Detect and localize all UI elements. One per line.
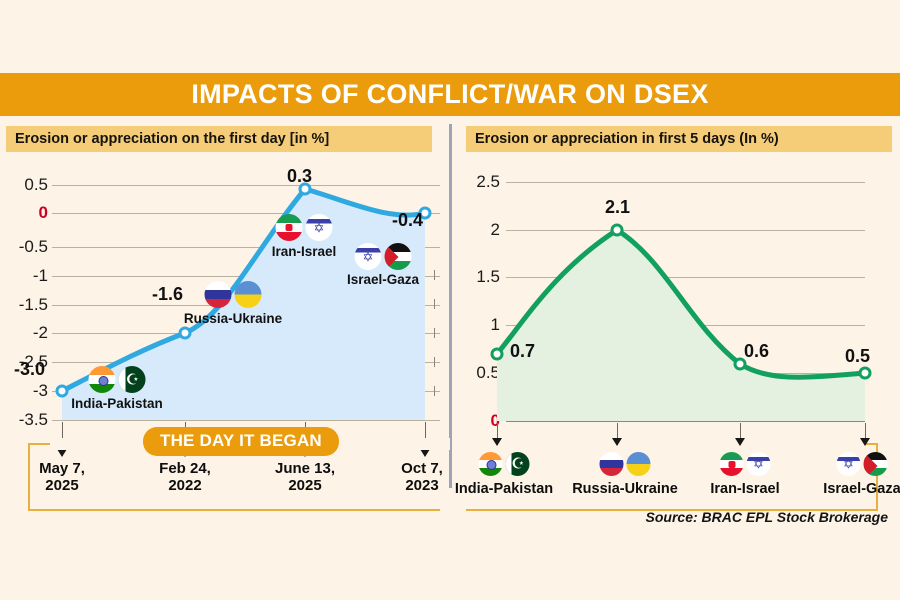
israel-flag-icon-3 [747,452,771,476]
flagpair-5d-iran-israel [720,452,771,476]
value-label-russia-ukraine: -1.6 [152,284,183,305]
event-label-israel-gaza: Israel-Gaza [347,272,419,287]
right-panel-heading-text: Erosion or appreciation in first 5 days … [466,131,779,147]
value-label-iran-israel: 0.3 [287,166,312,187]
event-label-russia-ukraine: Russia-Ukraine [184,311,282,326]
left-panel-heading-text: Erosion or appreciation on the first day… [6,131,329,147]
data-point-5d-russia-ukraine[interactable] [611,224,624,237]
main-title-bar: IMPACTS OF CONFLICT/WAR ON DSEX [0,73,900,116]
pakistan-flag-icon-2 [506,452,530,476]
israel-flag-icon-2 [355,243,382,270]
tick-right-edge-4 [434,357,435,367]
flagpair-5d-russia-ukraine [600,452,651,476]
x-arrow-5d-russia-ukraine [611,423,623,445]
right-area-fill [497,230,865,421]
flagpair-5d-india-pakistan [479,452,530,476]
israel-flag-icon-4 [837,452,861,476]
source-note: Source: BRAC EPL Stock Brokerage [646,509,888,525]
data-point-russia-ukraine[interactable] [179,327,192,340]
value-label-5d-russia-ukraine: 2.1 [605,197,630,218]
data-point-india-pakistan[interactable] [56,385,69,398]
data-point-5d-india-pakistan[interactable] [491,348,504,361]
palestine-flag-icon [385,243,412,270]
flagpair-5d-israel-gaza [837,452,888,476]
value-label-5d-india-pakistan: 0.7 [510,341,535,362]
tick-right-edge-1 [434,270,435,280]
category-label-5d-iran-israel: Iran-Israel [710,481,779,497]
data-point-5d-israel-gaza[interactable] [859,367,872,380]
value-label-5d-iran-israel: 0.6 [744,341,769,362]
value-label-israel-gaza: -0.4 [392,210,423,231]
flagpair-iran-israel [276,214,333,241]
right-panel-heading: Erosion or appreciation in first 5 days … [466,126,892,152]
category-label-5d-india-pakistan: India-Pakistan [455,481,553,497]
flagpair-israel-gaza [355,243,412,270]
the-day-it-began-badge: THE DAY IT BEGAN [143,427,339,456]
page-title: IMPACTS OF CONFLICT/WAR ON DSEX [191,79,708,110]
ukraine-flag-icon [235,281,262,308]
value-label-india-pakistan: -3.0 [14,359,45,380]
category-label-5d-israel-gaza: Israel-Gaza [823,481,900,497]
x-arrow-5d-iran-israel [734,423,746,445]
iran-flag-icon-2 [720,452,744,476]
x-arrow-5d-india-pakistan [491,423,503,445]
israel-flag-icon [306,214,333,241]
pakistan-flag-icon [119,366,146,393]
ukraine-flag-icon-2 [627,452,651,476]
russia-flag-icon [205,281,232,308]
tick-right-edge-5 [434,386,435,396]
category-label-5d-russia-ukraine: Russia-Ukraine [572,481,678,497]
tick-right-edge-2 [434,299,435,309]
left-panel-heading: Erosion or appreciation on the first day… [6,126,432,152]
russia-flag-icon-2 [600,452,624,476]
value-label-5d-israel-gaza: 0.5 [845,346,870,367]
flagpair-russia-ukraine [205,281,262,308]
india-flag-icon-3 [479,452,503,476]
india-flag-icon [89,366,116,393]
event-label-india-pakistan: India-Pakistan [71,396,163,411]
x-arrow-5d-israel-gaza [859,423,871,445]
palestine-flag-icon-2 [864,452,888,476]
flagpair-india-pakistan [89,366,146,393]
iran-flag-icon [276,214,303,241]
infographic-root: IMPACTS OF CONFLICT/WAR ON DSEX Erosion … [0,0,900,600]
tick-right-edge-3 [434,328,435,338]
event-label-iran-israel: Iran-Israel [272,244,337,259]
